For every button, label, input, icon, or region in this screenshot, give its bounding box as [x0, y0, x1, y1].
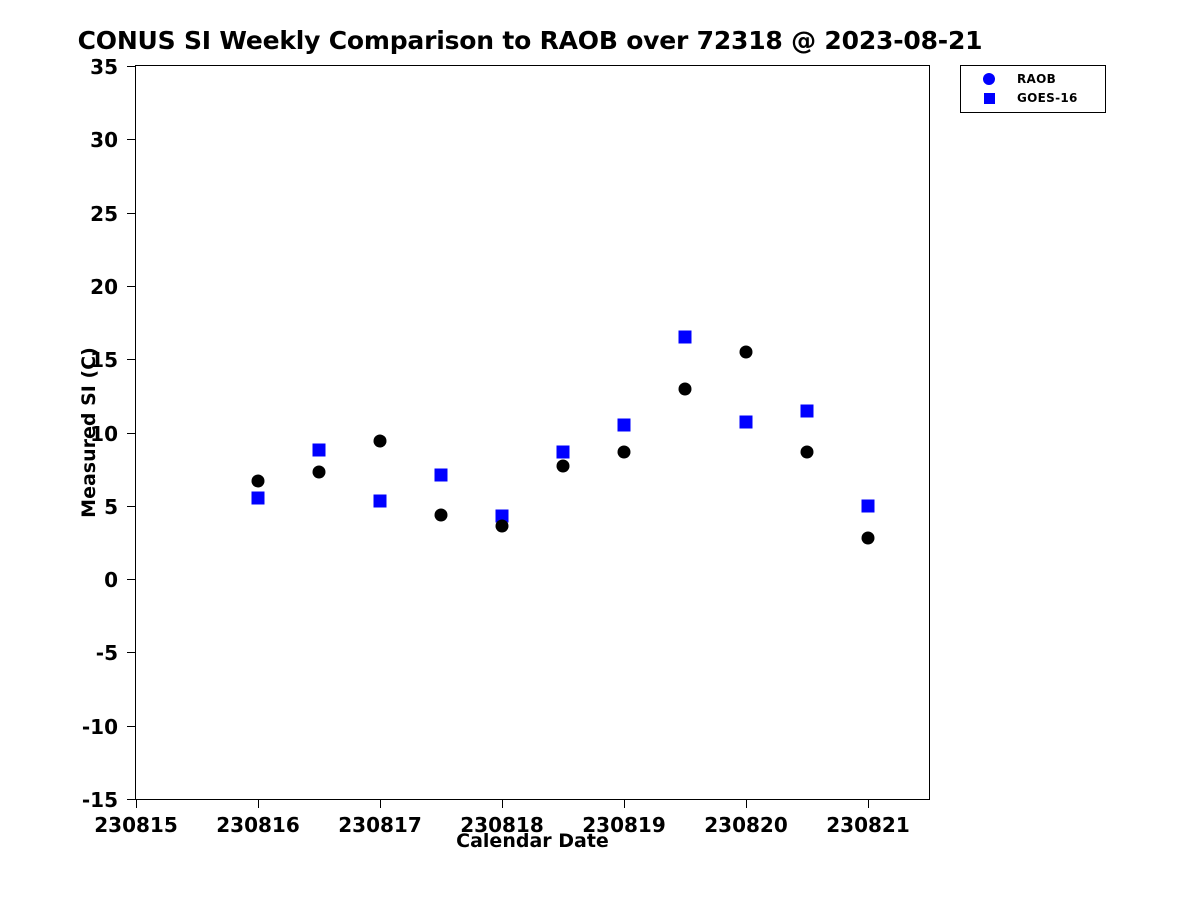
x-axis-tick: [624, 799, 625, 808]
data-points-layer: [136, 66, 929, 799]
data-point-raob: [252, 474, 265, 487]
x-axis-tick: [380, 799, 381, 808]
data-point-goes-16: [252, 492, 265, 505]
y-axis-tick: 25: [127, 213, 136, 214]
data-point-raob: [862, 532, 875, 545]
data-point-raob: [374, 435, 387, 448]
data-point-goes-16: [435, 469, 448, 482]
x-axis-tick: [746, 799, 747, 808]
x-axis-tick: [258, 799, 259, 808]
legend-item-goes16: GOES-16: [961, 88, 1105, 108]
y-axis-tick-label: 5: [104, 495, 118, 519]
y-axis-tick: 35: [127, 66, 136, 67]
x-axis-tick: [136, 799, 137, 808]
legend-square-marker-icon: [961, 93, 1017, 104]
data-point-goes-16: [740, 416, 753, 429]
y-axis-tick: 20: [127, 286, 136, 287]
x-axis-tick: [502, 799, 503, 808]
y-axis-tick: 5: [127, 506, 136, 507]
y-axis-tick: -10: [127, 726, 136, 727]
data-point-goes-16: [313, 444, 326, 457]
y-axis-tick: -5: [127, 652, 136, 653]
chart-figure: CONUS SI Weekly Comparison to RAOB over …: [0, 0, 1200, 900]
x-axis-label: Calendar Date: [135, 830, 930, 852]
data-point-raob: [740, 345, 753, 358]
y-axis-tick: 10: [127, 433, 136, 434]
data-point-goes-16: [557, 445, 570, 458]
legend-item-label: RAOB: [1017, 72, 1056, 86]
x-axis-tick: [868, 799, 869, 808]
page-title: CONUS SI Weekly Comparison to RAOB over …: [0, 26, 1060, 55]
data-point-goes-16: [801, 404, 814, 417]
data-point-raob: [313, 466, 326, 479]
legend: RAOB GOES-16: [960, 65, 1106, 113]
data-point-raob: [618, 445, 631, 458]
data-point-goes-16: [862, 499, 875, 512]
data-point-raob: [496, 520, 509, 533]
y-axis-tick: 15: [127, 359, 136, 360]
y-axis-label: Measured SI (C): [78, 65, 100, 800]
y-axis-tick: 30: [127, 139, 136, 140]
data-point-goes-16: [374, 495, 387, 508]
data-point-goes-16: [618, 419, 631, 432]
data-point-raob: [801, 445, 814, 458]
y-axis-tick: 0: [127, 579, 136, 580]
data-point-raob: [435, 508, 448, 521]
y-axis-tick: -15: [127, 799, 136, 800]
legend-circle-marker-icon: [961, 73, 1017, 85]
legend-item-raob: RAOB: [961, 69, 1105, 89]
data-point-raob: [557, 460, 570, 473]
data-point-goes-16: [679, 331, 692, 344]
y-axis-tick-label: 0: [104, 568, 118, 592]
legend-item-label: GOES-16: [1017, 91, 1078, 105]
data-point-raob: [679, 382, 692, 395]
plot-area: 35302520151050-5-10-15230815230816230817…: [135, 65, 930, 800]
